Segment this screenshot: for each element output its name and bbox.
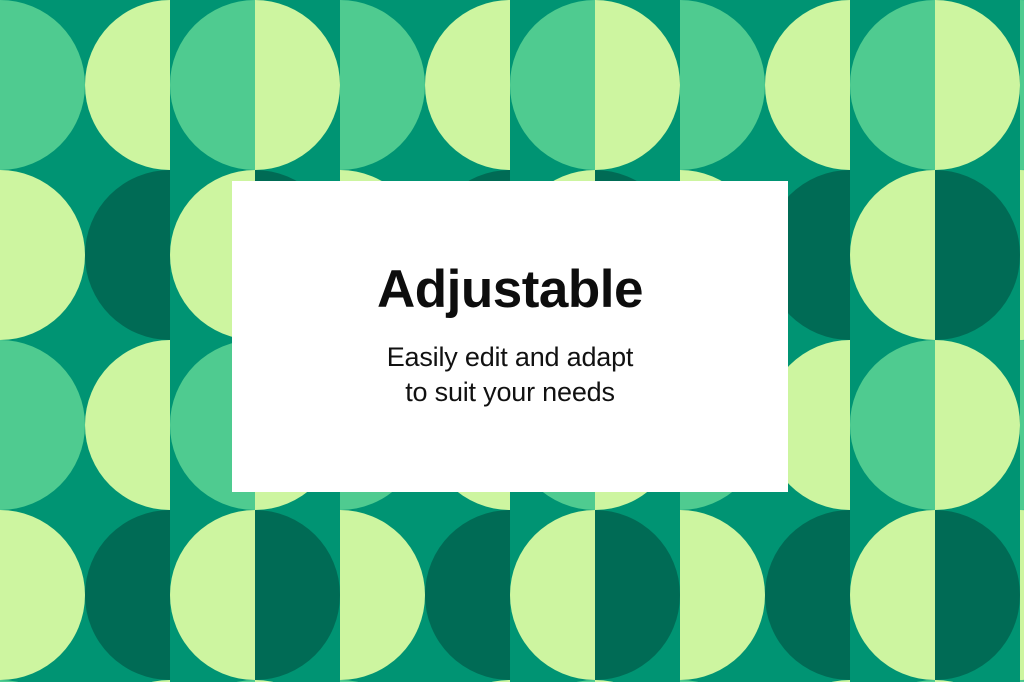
petal-cell: [255, 595, 340, 680]
slide-canvas: Adjustable Easily edit and adapt to suit…: [0, 0, 1024, 682]
petal-cell: [1020, 255, 1024, 340]
petal-cell: [255, 85, 340, 170]
petal-cell: [595, 595, 680, 680]
petal-cell: [935, 255, 1020, 340]
petal-cell: [935, 340, 1020, 425]
petal-cell: [680, 510, 765, 595]
petal-cell: [85, 425, 170, 510]
petal-cell: [595, 510, 680, 595]
petal-cell: [680, 85, 765, 170]
petal-cell: [765, 510, 850, 595]
petal-cell: [850, 340, 935, 425]
petal-cell: [850, 170, 935, 255]
petal-cell: [935, 85, 1020, 170]
petal-cell: [255, 510, 340, 595]
petal-cell: [170, 0, 255, 85]
petal-cell: [1020, 425, 1024, 510]
petal-cell: [1020, 595, 1024, 680]
petal-cell: [595, 85, 680, 170]
petal-cell: [85, 340, 170, 425]
petal-cell: [340, 85, 425, 170]
petal-cell: [680, 595, 765, 680]
petal-cell: [170, 510, 255, 595]
petal-cell: [0, 170, 85, 255]
petal-cell: [1020, 340, 1024, 425]
petal-cell: [765, 0, 850, 85]
petal-cell: [0, 510, 85, 595]
petal-cell: [425, 510, 510, 595]
petal-cell: [510, 0, 595, 85]
card-title: Adjustable: [377, 262, 643, 318]
content-card: Adjustable Easily edit and adapt to suit…: [232, 181, 788, 492]
petal-cell: [0, 255, 85, 340]
petal-cell: [0, 0, 85, 85]
petal-cell: [850, 425, 935, 510]
petal-cell: [1020, 170, 1024, 255]
petal-cell: [0, 595, 85, 680]
petal-cell: [85, 510, 170, 595]
petal-cell: [170, 85, 255, 170]
petal-cell: [850, 510, 935, 595]
petal-cell: [595, 0, 680, 85]
petal-cell: [255, 0, 340, 85]
petal-cell: [935, 425, 1020, 510]
petal-cell: [1020, 510, 1024, 595]
petal-cell: [510, 85, 595, 170]
petal-cell: [680, 0, 765, 85]
petal-cell: [0, 85, 85, 170]
card-subtitle: Easily edit and adapt to suit your needs: [387, 340, 633, 411]
petal-cell: [765, 85, 850, 170]
petal-cell: [340, 510, 425, 595]
petal-cell: [425, 595, 510, 680]
card-subtitle-line-1: Easily edit and adapt: [387, 340, 633, 376]
petal-cell: [85, 0, 170, 85]
petal-cell: [1020, 85, 1024, 170]
petal-cell: [425, 0, 510, 85]
petal-cell: [1020, 0, 1024, 85]
petal-cell: [170, 595, 255, 680]
petal-cell: [850, 0, 935, 85]
petal-cell: [850, 85, 935, 170]
petal-cell: [340, 595, 425, 680]
petal-cell: [935, 595, 1020, 680]
petal-cell: [765, 595, 850, 680]
card-subtitle-line-2: to suit your needs: [387, 375, 633, 411]
petal-cell: [510, 510, 595, 595]
petal-cell: [340, 0, 425, 85]
petal-cell: [850, 595, 935, 680]
petal-cell: [0, 425, 85, 510]
petal-cell: [425, 85, 510, 170]
petal-cell: [85, 255, 170, 340]
petal-cell: [85, 595, 170, 680]
petal-cell: [510, 595, 595, 680]
petal-cell: [935, 0, 1020, 85]
petal-cell: [850, 255, 935, 340]
petal-cell: [0, 340, 85, 425]
petal-cell: [85, 170, 170, 255]
petal-cell: [935, 510, 1020, 595]
petal-cell: [85, 85, 170, 170]
petal-cell: [935, 170, 1020, 255]
